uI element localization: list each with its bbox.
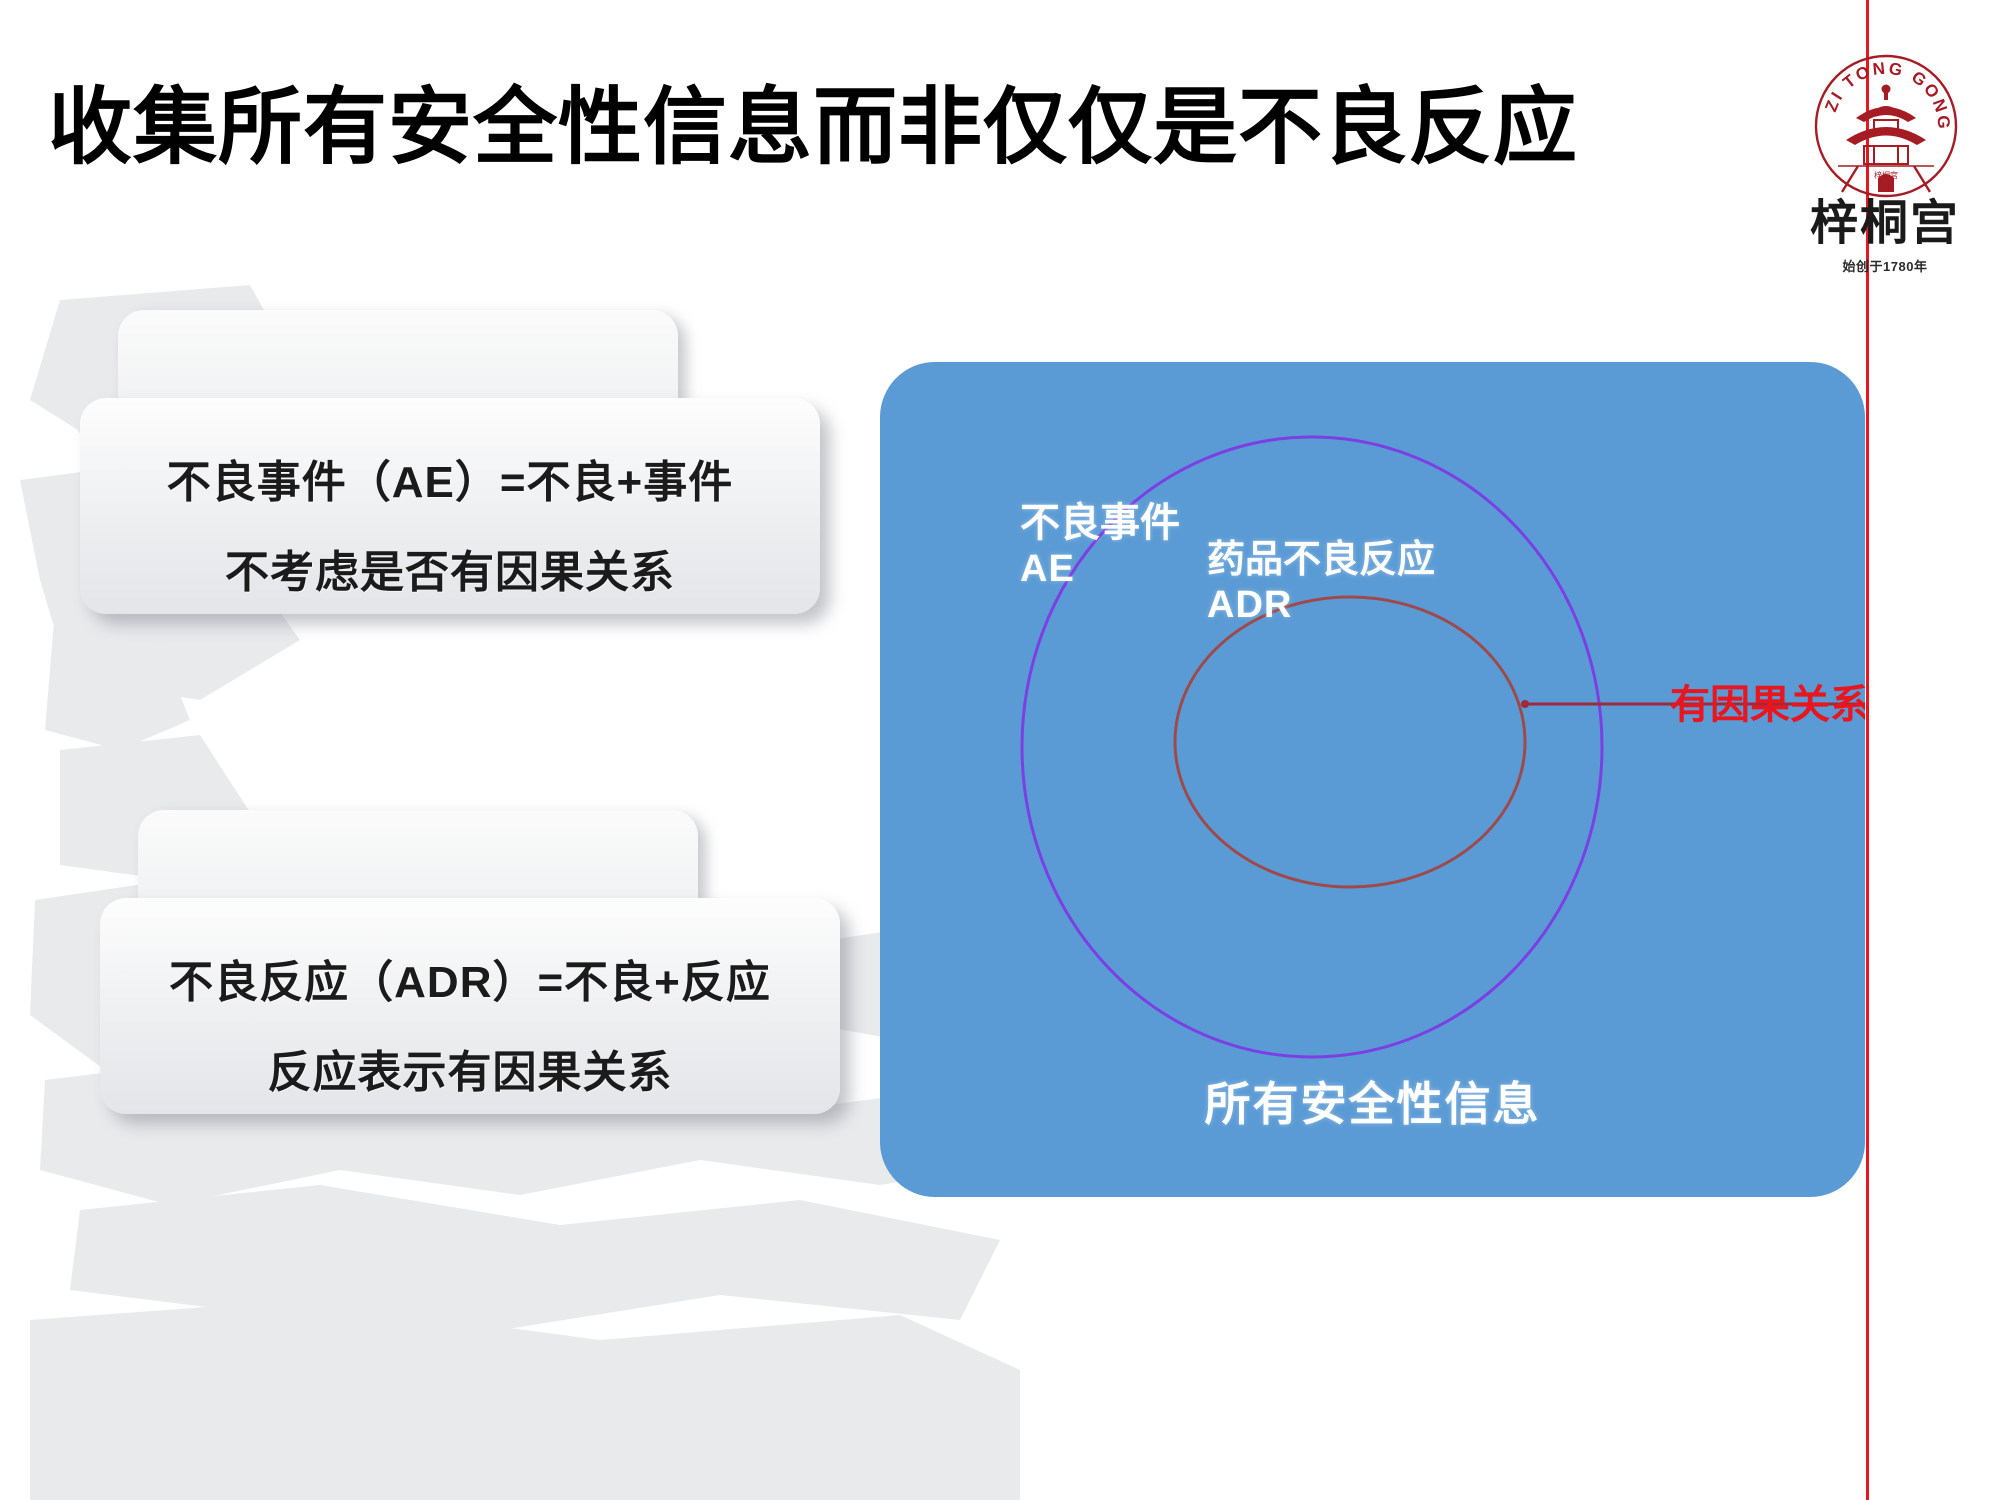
callout-adverse-drug-reaction: 不良反应（ADR）=不良+反应 反应表示有因果关系	[100, 810, 860, 1130]
venn-label-all-safety-information: 所有安全性信息	[880, 1077, 1865, 1131]
pagoda-seal-icon: ZI TONG GONG 梓桐宫	[1812, 52, 1960, 200]
callout-adverse-event: 不良事件（AE）=不良+事件 不考虑是否有因果关系	[80, 310, 840, 630]
callout-line-1: 不良事件（AE）=不良+事件	[80, 446, 820, 510]
venn-ellipses	[880, 362, 1865, 1197]
venn-label-ae-cn: 不良事件	[1020, 500, 1180, 547]
venn-label-ae-en: AE	[1020, 547, 1180, 592]
venn-label-adr: 药品不良反应 ADR	[1207, 538, 1435, 628]
callout-line-2: 不考虑是否有因果关系	[80, 536, 820, 600]
company-logo: ZI TONG GONG 梓桐宫 梓桐宫 始创于1780年	[1800, 52, 1970, 282]
callout-line-2: 反应表示有因果关系	[100, 1036, 840, 1100]
svg-text:梓桐宫: 梓桐宫	[1874, 170, 1898, 180]
inner-ellipse-adr	[1175, 597, 1525, 887]
venn-label-causal-relationship: 有因果关系	[1670, 682, 1865, 729]
callout-body: 不良反应（ADR）=不良+反应 反应表示有因果关系	[100, 898, 840, 1114]
callout-body: 不良事件（AE）=不良+事件 不考虑是否有因果关系	[80, 398, 820, 614]
venn-label-adr-en: ADR	[1207, 583, 1435, 628]
leader-line-endpoint	[1521, 700, 1529, 708]
callout-line-1: 不良反应（ADR）=不良+反应	[100, 946, 840, 1010]
page-title: 收集所有安全性信息而非仅仅是不良反应	[48, 82, 1748, 173]
slide-root: 收集所有安全性信息而非仅仅是不良反应 ZI TONG GONG 梓桐宫 梓桐宫 …	[0, 0, 2000, 1500]
venn-diagram-panel: 不良事件 AE 药品不良反应 ADR 有因果关系 所有安全性信息	[880, 362, 1865, 1197]
venn-label-adr-cn: 药品不良反应	[1207, 538, 1435, 583]
venn-label-ae: 不良事件 AE	[1020, 500, 1180, 592]
logo-since-text: 始创于1780年	[1800, 256, 1970, 275]
logo-wordmark: 梓桐宫	[1800, 200, 1970, 248]
